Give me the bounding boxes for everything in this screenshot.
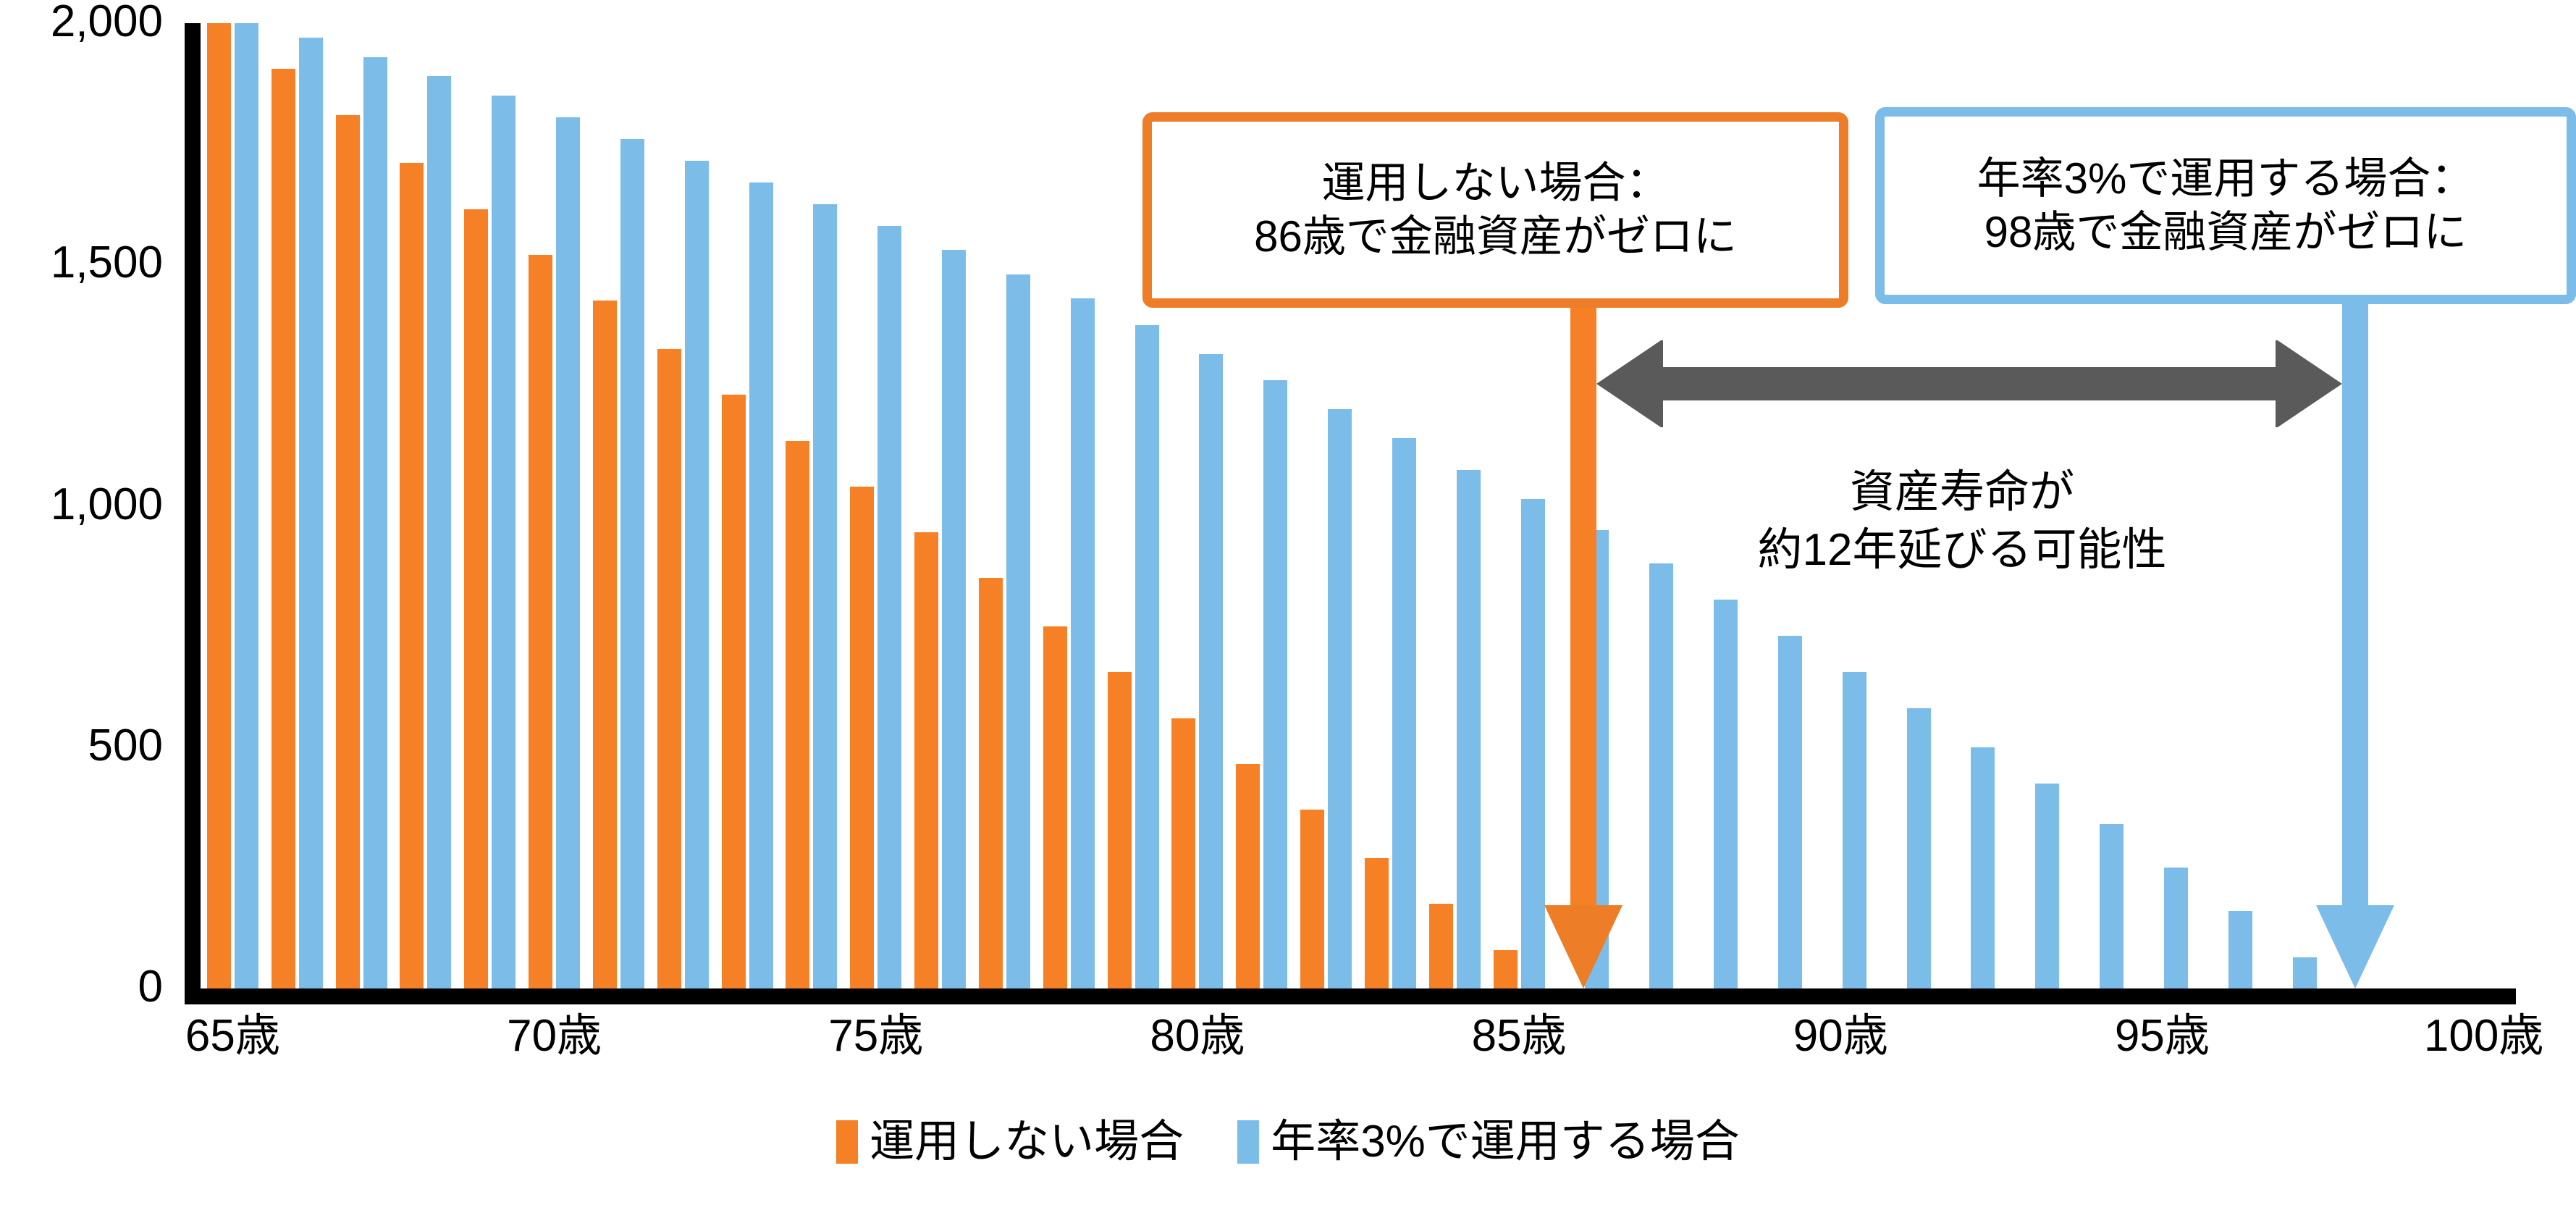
invested-callout: 年率3%で運用する場合： 98歳で金融資産がゼロに: [1875, 107, 2576, 304]
bar-no-investment-age-74: [786, 441, 809, 988]
lifespan-extension-note: 資産寿命が 約12年延びる可能性: [1658, 463, 2266, 579]
bar-invested-age-84: [1457, 470, 1481, 988]
x-tick-100: 100歳: [2424, 1014, 2543, 1059]
y-axis-line: [185, 23, 201, 988]
bar-no-investment-age-68: [400, 163, 424, 988]
bar-invested-age-70: [556, 117, 580, 988]
bar-no-investment-age-71: [593, 301, 617, 988]
callout-orange-line1: 運用しない場合：: [1322, 156, 1670, 210]
bar-invested-age-74: [813, 204, 837, 988]
bar-invested-age-79: [1135, 325, 1159, 988]
bar-no-investment-age-72: [657, 349, 681, 988]
callout-blue-line1: 年率3%で運用する場合：: [1977, 152, 2475, 206]
bar-invested-age-67: [363, 57, 387, 988]
bar-no-investment-age-76: [914, 532, 938, 988]
bar-invested-age-90: [1843, 672, 1866, 988]
mid-note-line1: 資産寿命が: [1658, 463, 2266, 521]
bar-invested-age-96: [2228, 911, 2252, 988]
bar-no-investment-age-69: [464, 209, 488, 988]
x-tick-75: 75歳: [828, 1014, 923, 1059]
x-tick-80: 80歳: [1150, 1014, 1245, 1059]
bar-invested-age-76: [942, 250, 966, 988]
bar-invested-age-69: [492, 96, 515, 988]
bar-invested-age-73: [749, 182, 773, 988]
bar-invested-age-93: [2035, 784, 2059, 988]
bar-invested-age-81: [1263, 380, 1287, 988]
x-tick-70: 70歳: [507, 1014, 602, 1059]
bar-invested-age-77: [1006, 274, 1030, 988]
legend-item-invested[interactable]: 年率3%で運用する場合: [1237, 1120, 1740, 1164]
bar-invested-age-85: [1521, 499, 1545, 988]
bar-invested-age-65: [235, 23, 258, 988]
bar-invested-age-95: [2164, 868, 2188, 988]
bar-no-investment-age-80: [1171, 718, 1195, 988]
bar-no-investment-age-82: [1300, 810, 1324, 988]
span-double-arrow: [1596, 340, 2342, 427]
bar-no-investment-age-83: [1365, 858, 1389, 988]
y-tick-0: 0: [0, 965, 163, 1009]
x-tick-95: 95歳: [2115, 1014, 2210, 1059]
bar-no-investment-age-78: [1043, 626, 1067, 988]
bar-invested-age-94: [2100, 824, 2123, 988]
bar-invested-age-92: [1971, 747, 1995, 988]
bar-no-investment-age-79: [1108, 672, 1132, 988]
bar-invested-age-87: [1649, 563, 1673, 988]
bar-invested-age-82: [1328, 409, 1352, 988]
bar-invested-age-72: [685, 161, 709, 988]
bar-invested-age-91: [1907, 708, 1931, 988]
bar-invested-age-71: [620, 139, 644, 988]
x-tick-85: 85歳: [1472, 1014, 1567, 1059]
bar-no-investment-age-77: [979, 578, 1003, 988]
bar-invested-age-88: [1714, 600, 1738, 988]
chart-legend: 運用しない場合年率3%で運用する場合: [0, 1120, 2576, 1164]
y-tick-1500: 1,500: [0, 240, 163, 285]
callout-orange-line2: 86歳で金融資産がゼロに: [1254, 210, 1737, 264]
legend-item-no-investment[interactable]: 運用しない場合: [836, 1120, 1184, 1164]
bar-invested-age-97: [2293, 957, 2317, 988]
x-tick-65: 65歳: [185, 1014, 280, 1059]
bar-no-investment-age-81: [1236, 764, 1260, 988]
legend-swatch-icon: [836, 1120, 858, 1164]
bar-no-investment-age-67: [336, 115, 360, 988]
bar-no-investment-age-75: [850, 487, 874, 988]
bar-invested-age-78: [1071, 298, 1095, 988]
callout-blue-line2: 98歳で金融資産がゼロに: [1984, 206, 2467, 259]
bar-no-investment-age-66: [272, 69, 295, 988]
legend-label: 年率3%で運用する場合: [1271, 1120, 1740, 1164]
x-axis-line: [185, 988, 2516, 1004]
mid-note-line2: 約12年延びる可能性: [1658, 521, 2266, 579]
legend-label: 運用しない場合: [870, 1120, 1184, 1164]
bar-invested-age-68: [427, 76, 451, 988]
bar-invested-age-89: [1778, 636, 1802, 988]
bar-invested-age-66: [299, 38, 323, 988]
bar-no-investment-age-65: [207, 23, 231, 988]
x-tick-90: 90歳: [1793, 1014, 1888, 1059]
bar-no-investment-age-85: [1494, 950, 1518, 988]
y-tick-500: 500: [0, 723, 163, 768]
legend-swatch-icon: [1237, 1120, 1259, 1164]
bar-invested-age-83: [1392, 438, 1416, 988]
bar-no-investment-age-84: [1429, 904, 1453, 988]
bar-invested-age-80: [1199, 354, 1223, 988]
bar-no-investment-age-73: [722, 395, 746, 988]
y-tick-2000: 2,000: [0, 0, 163, 44]
no-investment-callout: 運用しない場合： 86歳で金融資産がゼロに: [1142, 112, 1848, 308]
bar-invested-age-75: [877, 226, 901, 988]
asset-depletion-bar-chart: 2,0001,5001,0005000 65歳70歳75歳80歳85歳90歳95…: [0, 0, 2576, 1205]
y-tick-1000: 1,000: [0, 482, 163, 527]
bar-no-investment-age-70: [529, 255, 552, 988]
